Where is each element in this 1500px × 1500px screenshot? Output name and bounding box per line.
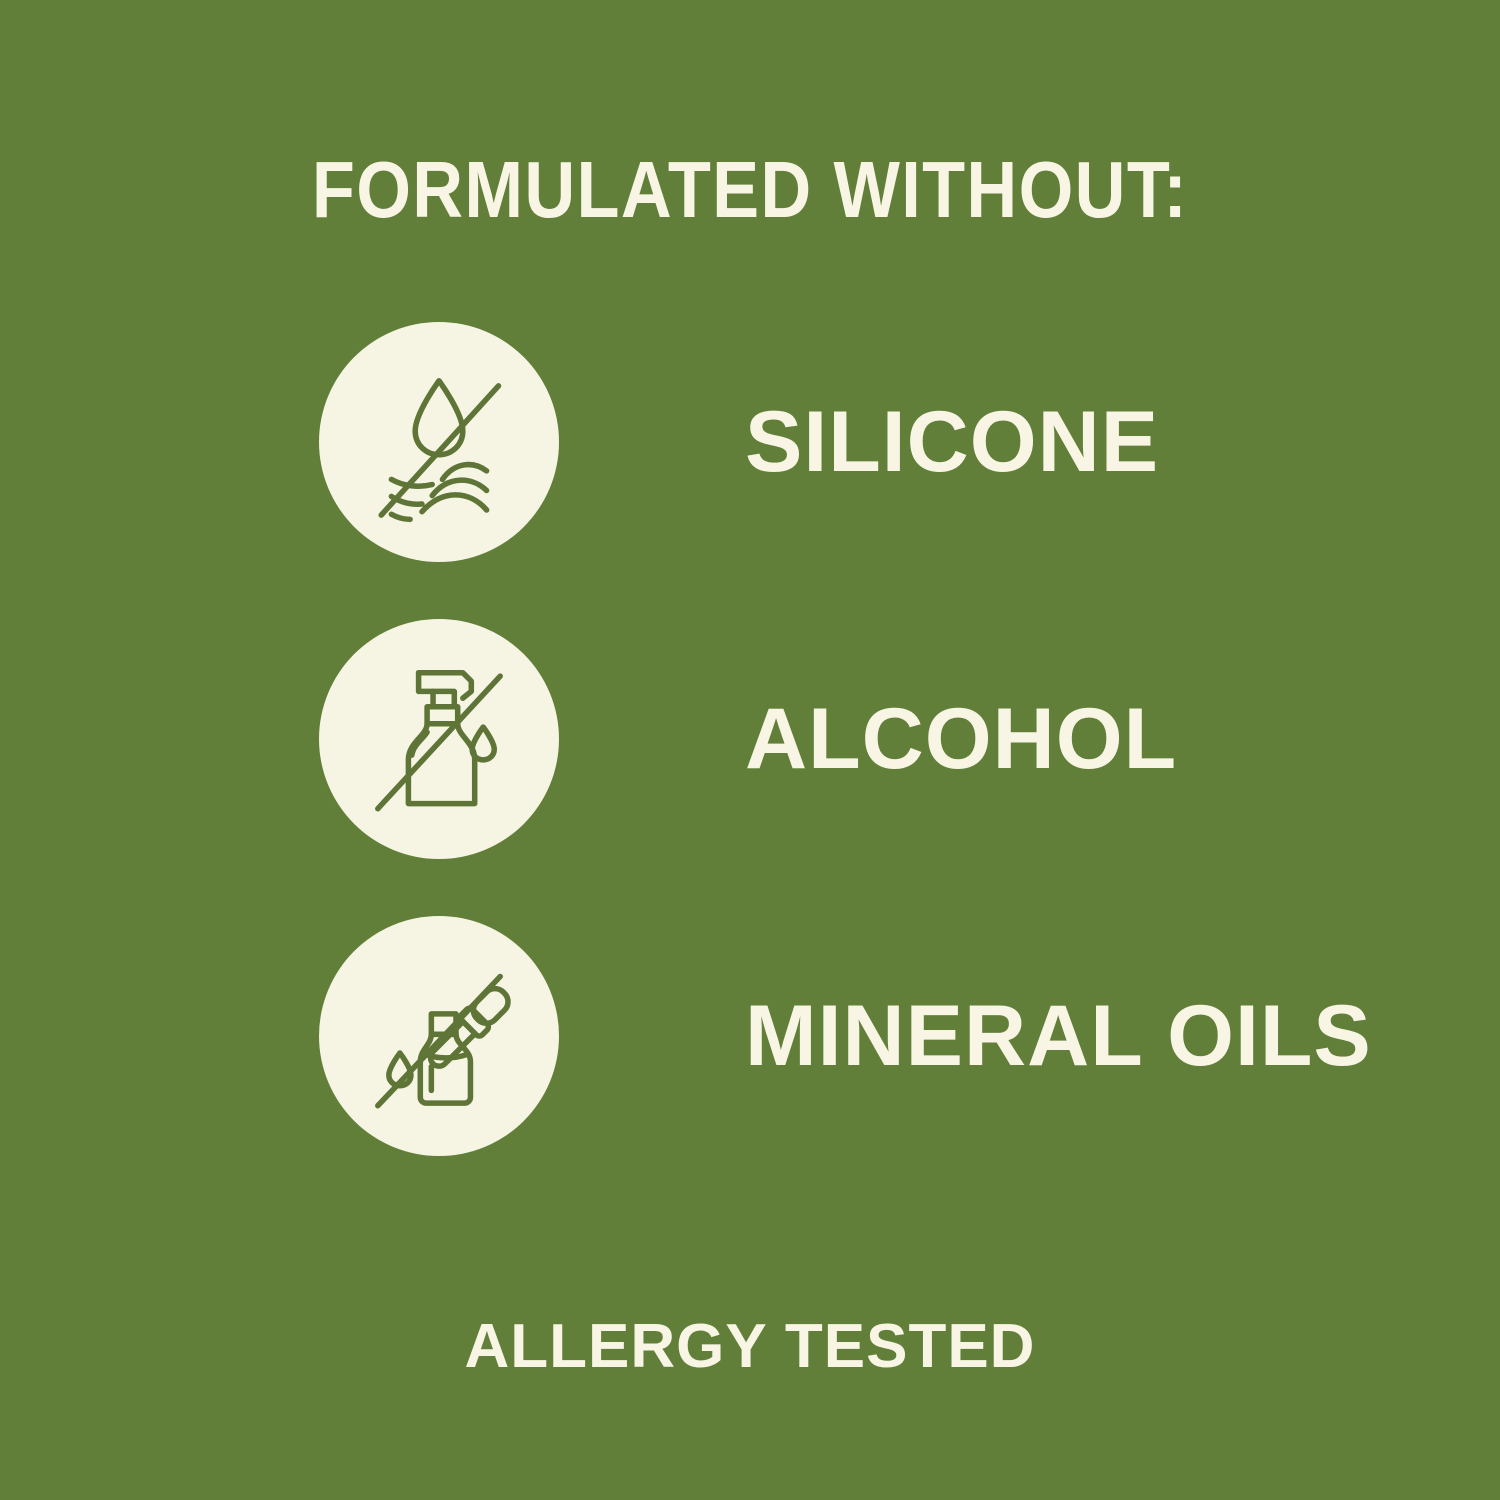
no-mineral-oils-dropper-bottle-icon <box>354 951 524 1121</box>
no-silicone-droplet-waves-icon <box>354 357 524 527</box>
list-item-label: ALCOHOL <box>745 619 1177 859</box>
excluded-ingredients-list: SILICONE <box>0 322 1500 1156</box>
list-item: MINERAL OILS <box>0 916 1500 1156</box>
prohibition-slash-icon <box>378 977 500 1106</box>
no-alcohol-badge <box>319 619 559 859</box>
prohibition-slash-icon <box>378 676 500 809</box>
page-title: FORMULATED WITHOUT: <box>90 150 1410 230</box>
allergy-tested-note: ALLERGY TESTED <box>0 1316 1500 1378</box>
formulated-without-panel: FORMULATED WITHOUT: <box>0 0 1500 1500</box>
list-item: SILICONE <box>0 322 1500 562</box>
list-item: ALCOHOL <box>0 619 1500 859</box>
no-mineral-oils-badge <box>319 916 559 1156</box>
no-silicone-badge <box>319 322 559 562</box>
list-item-label: MINERAL OILS <box>745 916 1372 1156</box>
no-alcohol-pump-bottle-icon <box>354 654 524 824</box>
list-item-label: SILICONE <box>745 322 1159 562</box>
